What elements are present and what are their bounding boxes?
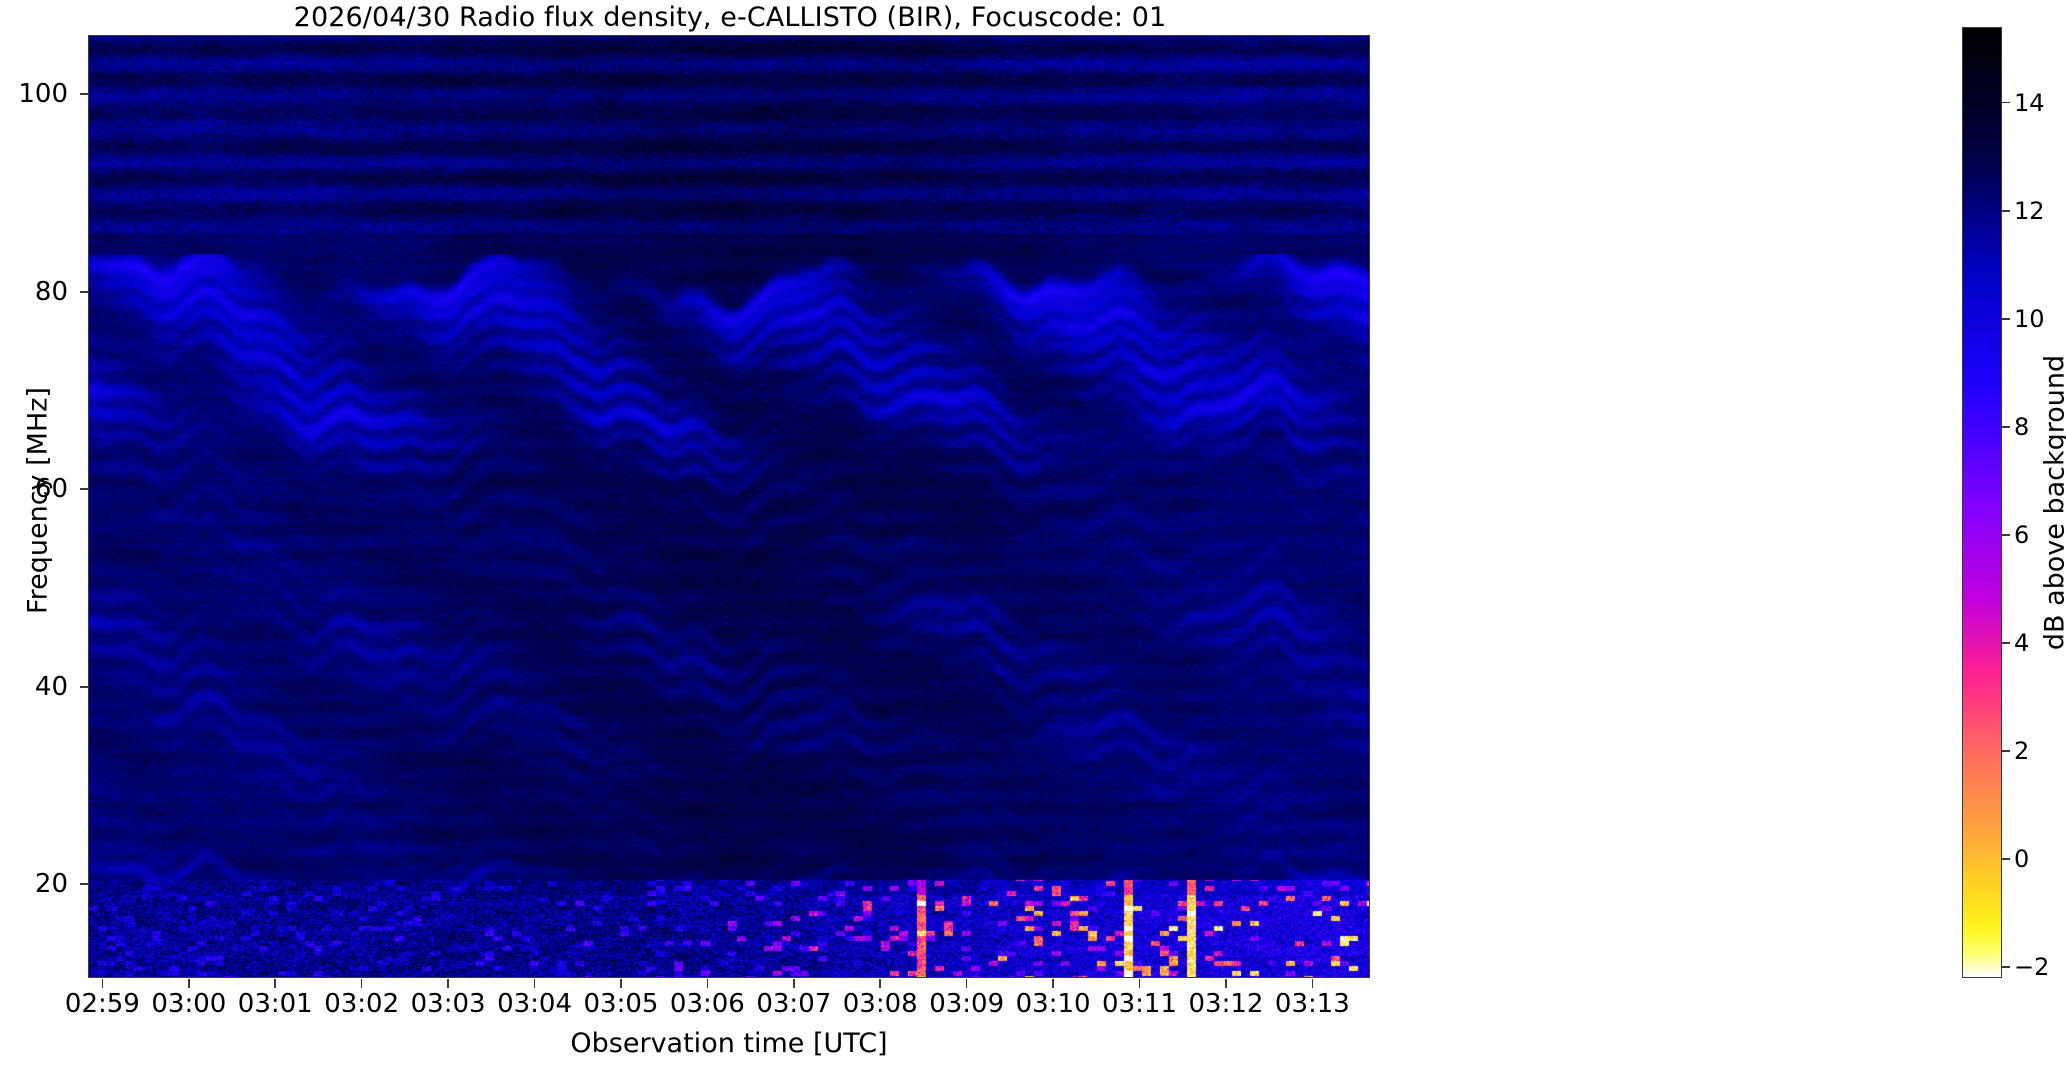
colorbar-tick-label: 4 [2014, 631, 2029, 655]
colorbar-tick-mark [2002, 966, 2010, 968]
x-tick-mark [1139, 979, 1141, 988]
colorbar-tick-mark [2002, 750, 2010, 752]
x-tick-mark [620, 979, 622, 988]
colorbar-tick-label: 0 [2014, 847, 2029, 871]
colorbar-tick-label: 2 [2014, 739, 2029, 763]
spectrogram-axes[interactable] [88, 35, 1370, 978]
x-tick-mark [447, 979, 449, 988]
figure-canvas: 2026/04/30 Radio flux density, e-CALLIST… [0, 0, 2066, 1067]
x-tick-mark [879, 979, 881, 988]
colorbar-label-container: dB above background [2040, 27, 2066, 978]
colorbar-tick-label: 8 [2014, 415, 2029, 439]
x-tick-mark [1052, 979, 1054, 988]
colorbar-tick-label: 6 [2014, 523, 2029, 547]
colorbar-tick-mark [2002, 534, 2010, 536]
x-tick-label: 03:13 [1242, 991, 1382, 1017]
y-tick-mark [80, 883, 88, 885]
x-tick-mark [793, 979, 795, 988]
x-tick-mark [707, 979, 709, 988]
colorbar-tick-mark [2002, 102, 2010, 104]
colorbar-label: dB above background [2040, 28, 2066, 978]
x-tick-mark [534, 979, 536, 988]
y-tick-mark [80, 291, 88, 293]
x-tick-mark [1225, 979, 1227, 988]
y-axis-label-container: Frequency [MHz] [10, 35, 50, 978]
y-tick-mark [80, 488, 88, 490]
x-tick-mark [1312, 979, 1314, 988]
colorbar-tick-mark [2002, 642, 2010, 644]
colorbar-tick-mark [2002, 210, 2010, 212]
colorbar-frame [1962, 27, 2002, 978]
x-tick-mark [966, 979, 968, 988]
spectrogram-image [89, 36, 1370, 978]
page-title: 2026/04/30 Radio flux density, e-CALLIST… [0, 2, 1460, 33]
x-tick-mark [361, 979, 363, 988]
x-tick-mark [274, 979, 276, 988]
x-tick-mark [102, 979, 104, 988]
colorbar-tick-mark [2002, 318, 2010, 320]
colorbar-tick-mark [2002, 858, 2010, 860]
y-tick-mark [80, 93, 88, 95]
y-axis-label: Frequency [MHz] [23, 21, 54, 981]
colorbar-tick-mark [2002, 426, 2010, 428]
colorbar[interactable] [1962, 27, 2002, 978]
y-tick-mark [80, 686, 88, 688]
x-tick-mark [188, 979, 190, 988]
colorbar-gradient [1963, 28, 2001, 977]
x-axis-label: Observation time [UTC] [88, 1028, 1370, 1059]
